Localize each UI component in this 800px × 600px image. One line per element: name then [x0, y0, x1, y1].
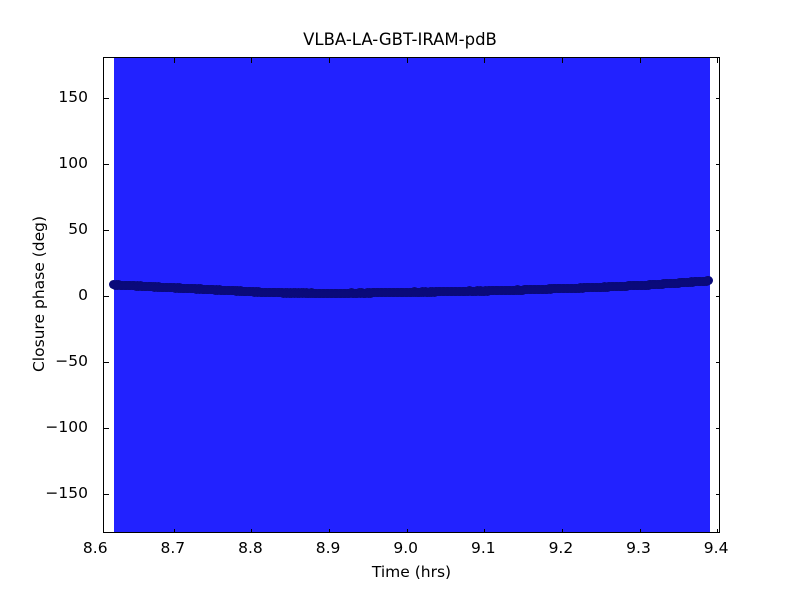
x-tick-mark — [484, 58, 485, 63]
y-tick-mark — [104, 230, 109, 231]
x-tick-mark — [174, 529, 175, 533]
x-tick-label: 9.4 — [704, 539, 729, 557]
y-tick-mark — [104, 362, 109, 363]
y-tick-mark — [104, 494, 109, 495]
x-tick-mark — [484, 529, 485, 533]
x-tick-label: 8.9 — [316, 539, 341, 557]
plot-area — [103, 57, 720, 533]
y-tick-mark — [104, 296, 109, 297]
x-tick-mark — [717, 529, 718, 533]
y-tick-label: 0 — [78, 286, 88, 304]
x-tick-mark — [562, 58, 563, 63]
x-tick-mark — [407, 58, 408, 63]
x-tick-mark — [251, 529, 252, 533]
x-tick-mark — [251, 58, 252, 63]
x-tick-mark — [329, 58, 330, 63]
y-tick-mark — [716, 296, 720, 297]
y-tick-mark — [104, 428, 109, 429]
x-tick-label: 9.1 — [471, 539, 496, 557]
data-marker-layer — [104, 58, 719, 532]
x-tick-label: 8.6 — [83, 539, 108, 557]
x-tick-mark — [640, 529, 641, 533]
y-tick-mark — [104, 164, 109, 165]
y-tick-mark — [716, 428, 720, 429]
x-tick-label: 9.0 — [393, 539, 418, 557]
y-tick-mark — [716, 98, 720, 99]
x-axis-label: Time (hrs) — [103, 563, 720, 581]
page-title: VLBA-LA-GBT-IRAM-pdB — [0, 30, 800, 49]
x-tick-mark — [174, 58, 175, 63]
y-tick-mark — [716, 164, 720, 165]
x-tick-mark — [717, 58, 718, 63]
y-tick-label: −150 — [45, 484, 88, 502]
x-tick-label: 9.3 — [626, 539, 651, 557]
x-tick-mark — [329, 529, 330, 533]
y-tick-mark — [104, 98, 109, 99]
x-tick-label: 9.2 — [549, 539, 574, 557]
y-tick-mark — [716, 230, 720, 231]
y-tick-label: 100 — [58, 154, 88, 172]
y-tick-mark — [716, 362, 720, 363]
y-tick-label: −50 — [55, 352, 88, 370]
x-tick-mark — [640, 58, 641, 63]
matplotlib-figure: VLBA-LA-GBT-IRAM-pdB Closure phase (deg)… — [0, 0, 800, 600]
y-tick-label: 150 — [58, 88, 88, 106]
x-tick-label: 8.8 — [238, 539, 263, 557]
x-tick-mark — [407, 529, 408, 533]
y-tick-label: −100 — [45, 418, 88, 436]
y-tick-mark — [716, 494, 720, 495]
data-point — [704, 276, 713, 285]
x-tick-label: 8.7 — [161, 539, 186, 557]
x-tick-mark — [562, 529, 563, 533]
y-tick-label: 50 — [68, 220, 88, 238]
